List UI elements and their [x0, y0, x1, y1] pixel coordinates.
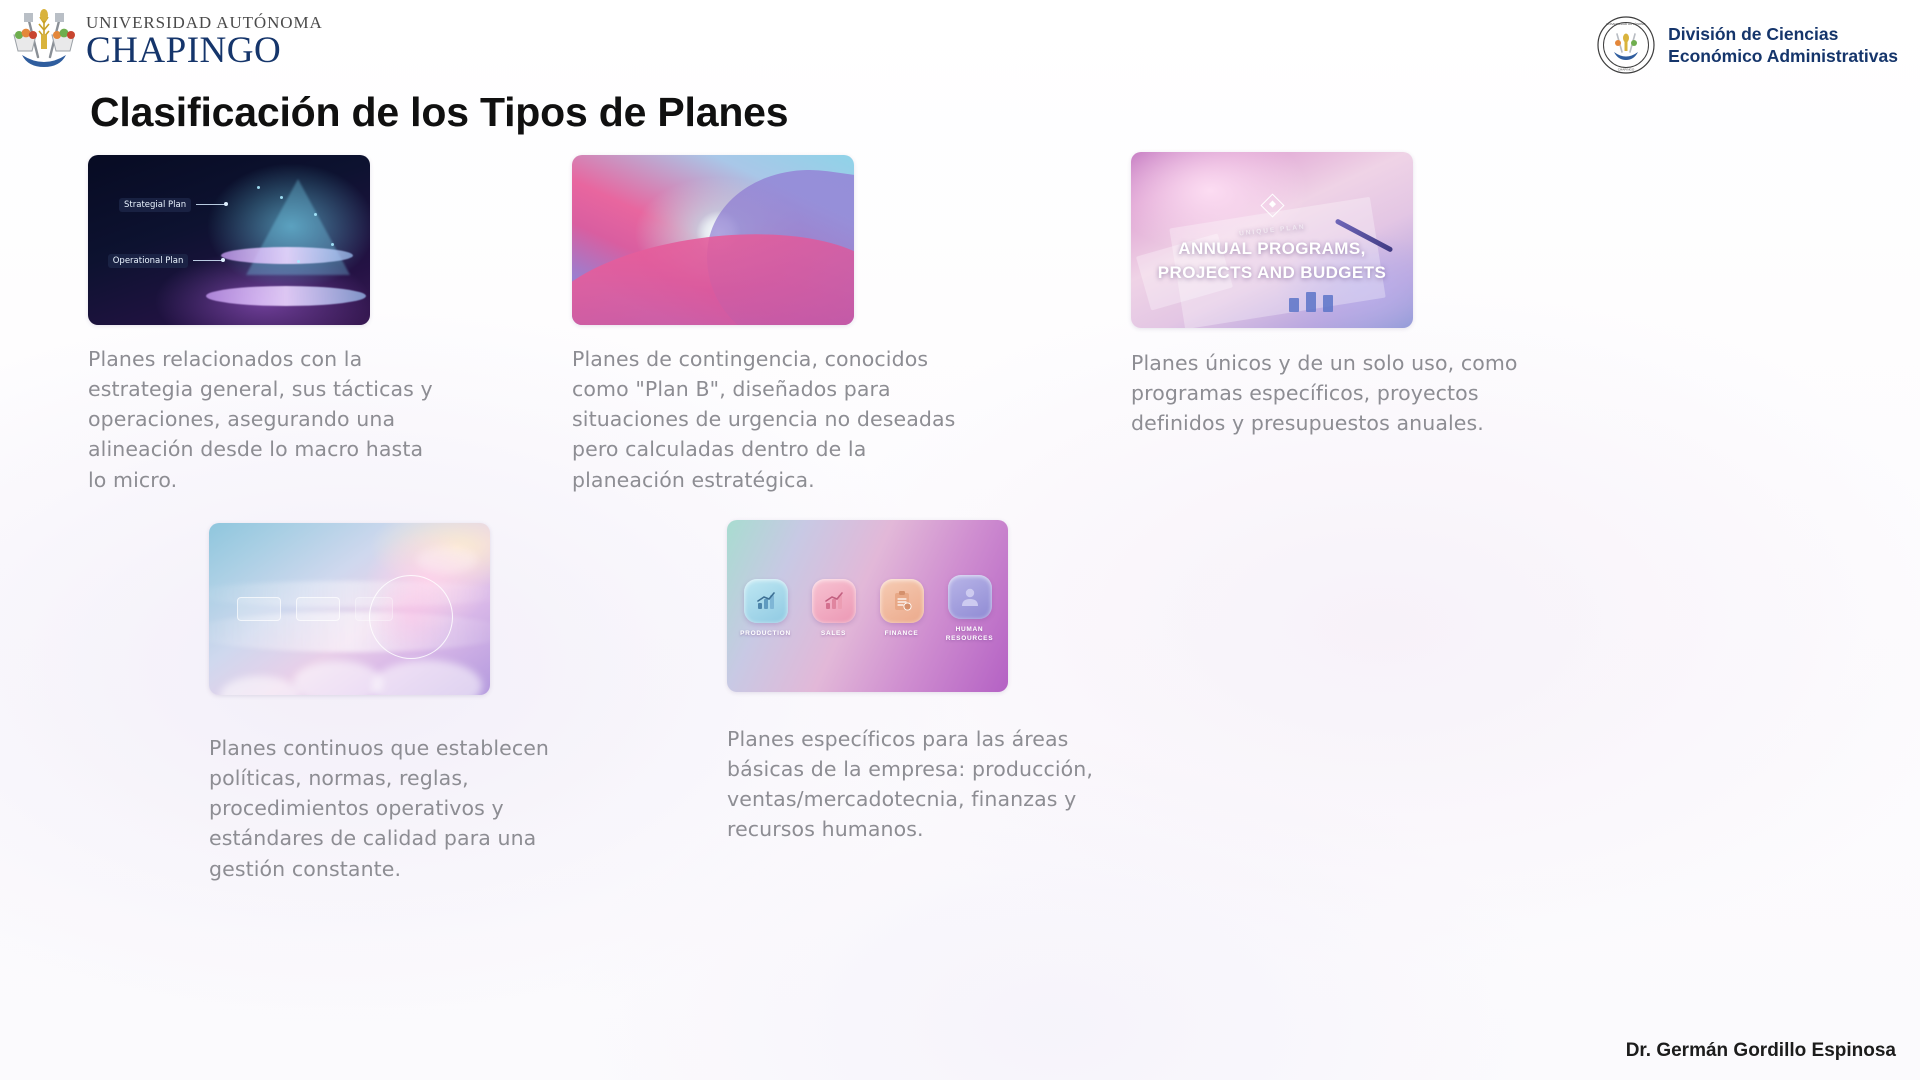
card-permanent: Planes continuos que establecen política… — [209, 523, 639, 904]
area-label-finance: FINANCE — [885, 630, 919, 638]
card-strategic-image: Strategial Plan Operational Plan — [88, 155, 370, 325]
clipboard-icon — [880, 579, 924, 623]
division-name-line2: Económico Administrativas — [1668, 45, 1898, 67]
card-functional-caption: Planes específicos para las áreas básica… — [727, 724, 1127, 845]
pyramid-label-strategic: Strategial Plan — [119, 198, 191, 212]
card-functional-image: PRODUCTION SALES — [727, 520, 1008, 692]
card-permanent-image — [209, 523, 490, 695]
area-label-production: PRODUCTION — [740, 630, 791, 638]
university-logo: UNIVERSIDAD AUTÓNOMA CHAPINGO — [8, 4, 318, 76]
person-icon — [948, 575, 992, 619]
card-contingency: Planes de contingencia, conocidos como "… — [572, 155, 1022, 515]
area-icon-human-resources: HUMAN RESOURCES — [944, 575, 996, 642]
card-strategic-caption: Planes relacionados con la estrategia ge… — [88, 344, 448, 495]
card-unique-caption: Planes únicos y de un solo uso, como pro… — [1131, 348, 1531, 438]
card-unique-image: UNIQUE PLAN ANNUAL PROGRAMS, PROJECTS AN… — [1131, 152, 1413, 328]
division-name-line1: División de Ciencias — [1668, 23, 1898, 45]
card-functional: PRODUCTION SALES — [727, 520, 1157, 865]
area-label-human-resources: HUMAN RESOURCES — [944, 626, 996, 642]
area-icon-finance: FINANCE — [876, 579, 928, 638]
slide-canvas: UNIVERSIDAD AUTÓNOMA CHAPINGO UNIVERSIDA… — [0, 0, 1920, 1080]
card-permanent-caption: Planes continuos que establecen política… — [209, 733, 599, 884]
division-wordmark: División de Ciencias Económico Administr… — [1668, 23, 1898, 68]
page-title: Clasificación de los Tipos de Planes — [90, 89, 788, 136]
area-label-sales: SALES — [821, 630, 846, 638]
card-strategic: Strategial Plan Operational Plan Planes … — [88, 155, 518, 515]
card-unique-headline-line2: PROJECTS AND BUDGETS — [1158, 263, 1386, 284]
card-contingency-caption: Planes de contingencia, conocidos como "… — [572, 344, 972, 495]
area-icon-sales: SALES — [808, 579, 860, 638]
card-unique-overline: UNIQUE PLAN — [1238, 223, 1305, 237]
university-name-line1: UNIVERSIDAD AUTÓNOMA — [86, 14, 323, 31]
bar-chart-icon — [812, 579, 856, 623]
area-icon-production: PRODUCTION — [740, 579, 792, 638]
division-logo: UNIVERSIDAD AUTÓNOMA CHAPINGO División d… — [1597, 16, 1898, 74]
card-unique: UNIQUE PLAN ANNUAL PROGRAMS, PROJECTS AN… — [1131, 152, 1561, 459]
pyramid-label-operational: Operational Plan — [108, 254, 189, 268]
author-credit: Dr. Germán Gordillo Espinosa — [1626, 1040, 1896, 1062]
svg-text:UNIVERSIDAD AUTÓNOMA: UNIVERSIDAD AUTÓNOMA — [1606, 21, 1647, 26]
diamond-icon — [1260, 193, 1284, 217]
division-seal-icon: UNIVERSIDAD AUTÓNOMA CHAPINGO — [1597, 16, 1655, 74]
bar-chart-icon — [744, 579, 788, 623]
chapingo-crest-icon — [8, 5, 80, 75]
card-unique-headline-line1: ANNUAL PROGRAMS, — [1178, 239, 1365, 260]
university-name-line2: CHAPINGO — [86, 32, 323, 69]
university-wordmark: UNIVERSIDAD AUTÓNOMA CHAPINGO — [86, 12, 323, 69]
card-contingency-image — [572, 155, 854, 325]
svg-text:CHAPINGO: CHAPINGO — [1618, 68, 1635, 72]
